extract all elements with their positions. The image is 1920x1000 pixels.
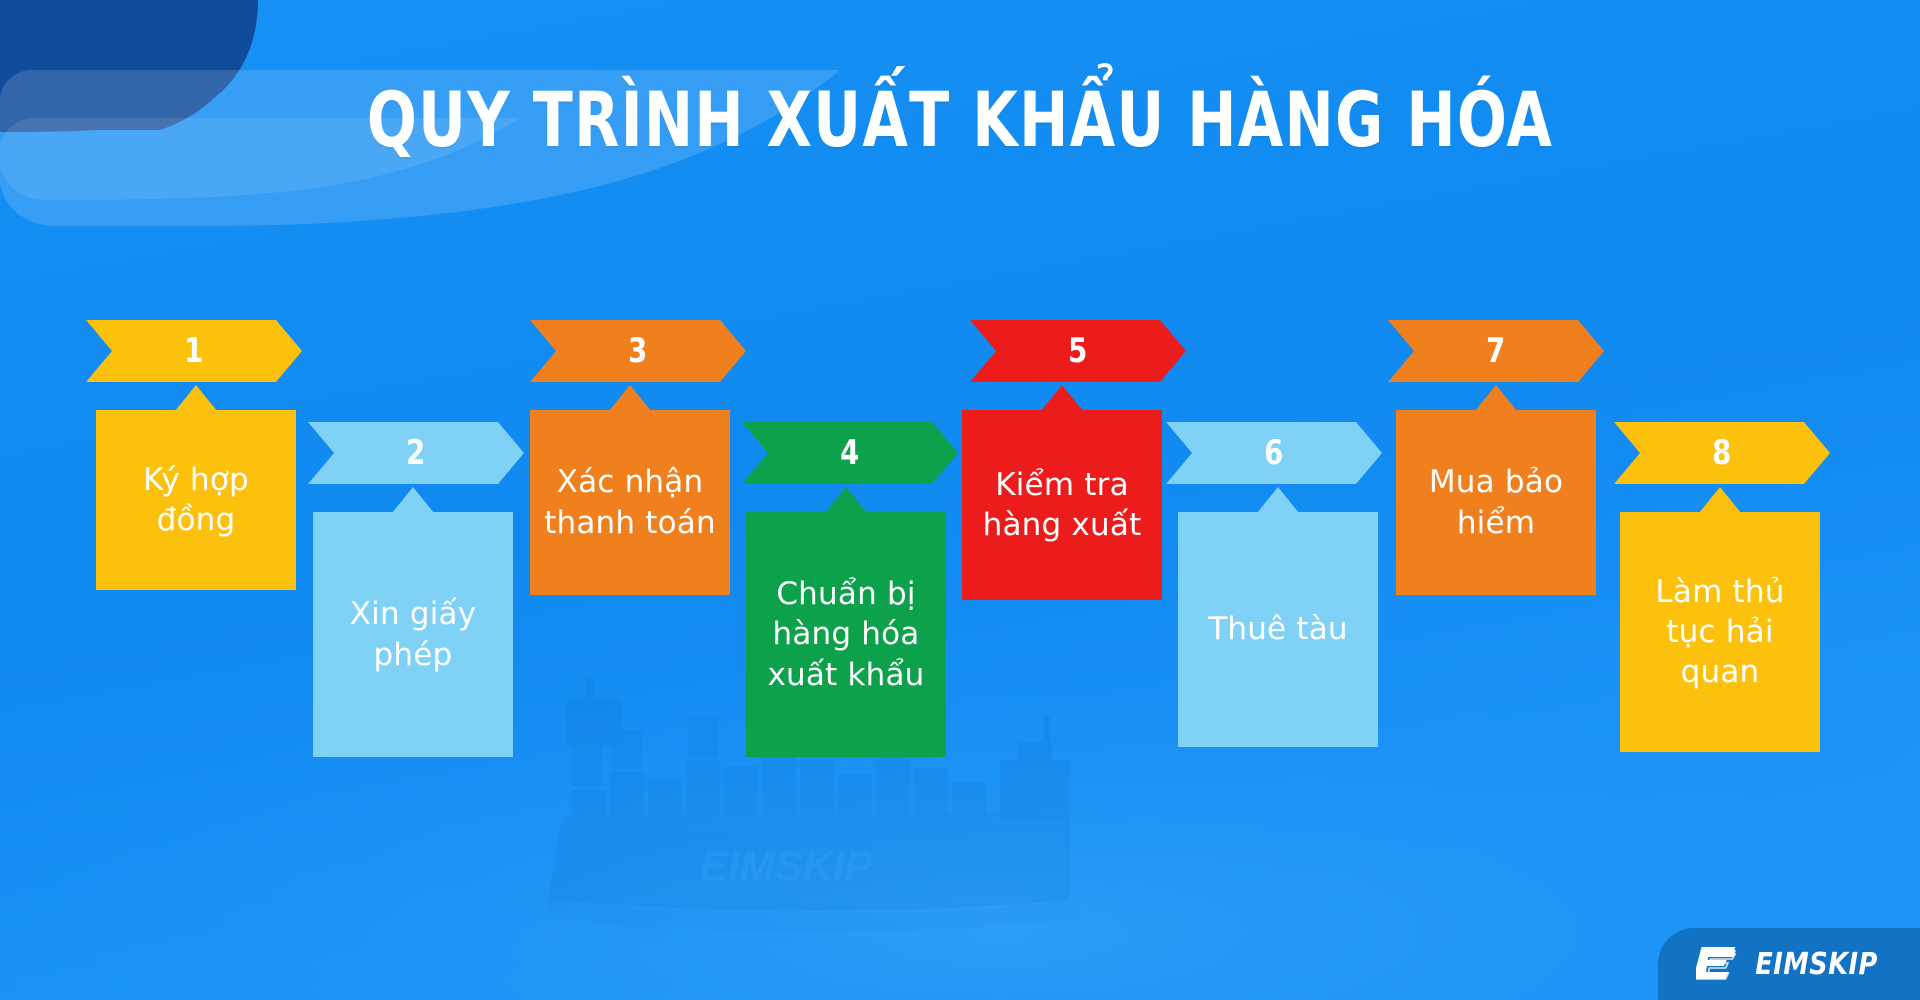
step-1-connector-tab: [175, 385, 217, 411]
step-3-number-banner[interactable]: 3: [530, 320, 746, 382]
step-5-number: 5: [1068, 331, 1088, 371]
step-4-label: Chuẩn bị hàng hóa xuất khẩu: [760, 574, 932, 695]
step-5-connector-tab: [1041, 385, 1083, 411]
step-4-number-banner[interactable]: 4: [742, 422, 958, 484]
step-2-card[interactable]: Xin giấy phép: [313, 512, 513, 757]
step-2-connector-tab: [392, 487, 434, 513]
step-1-label: Ký hợp đồng: [110, 460, 282, 541]
step-7-number-banner[interactable]: 7: [1388, 320, 1604, 382]
step-3-label: Xác nhận thanh toán: [544, 462, 716, 543]
step-5-number-banner[interactable]: 5: [970, 320, 1186, 382]
step-6-number-banner[interactable]: 6: [1166, 422, 1382, 484]
brand-logo-panel: EIMSKIP: [1658, 928, 1920, 1000]
step-4-number: 4: [840, 433, 860, 473]
step-8-connector-tab: [1699, 487, 1741, 513]
step-3-card[interactable]: Xác nhận thanh toán: [530, 410, 730, 595]
step-8-number: 8: [1712, 433, 1732, 473]
step-2-number-banner[interactable]: 2: [308, 422, 524, 484]
step-6-card[interactable]: Thuê tàu: [1178, 512, 1378, 747]
step-8-label: Làm thủ tục hải quan: [1634, 572, 1806, 693]
step-5-card[interactable]: Kiểm tra hàng xuất: [962, 410, 1162, 600]
step-7-card[interactable]: Mua bảo hiểm: [1396, 410, 1596, 595]
step-7-number: 7: [1486, 331, 1506, 371]
brand-name: EIMSKIP: [1756, 947, 1879, 982]
infographic-canvas: EIMSKIP QUY TRÌNH XUẤT KHẨU HÀNG HÓA 1Ký…: [0, 0, 1920, 1000]
step-2-number: 2: [406, 433, 426, 473]
step-8-number-banner[interactable]: 8: [1614, 422, 1830, 484]
step-4-connector-tab: [825, 487, 867, 513]
step-1-card[interactable]: Ký hợp đồng: [96, 410, 296, 590]
step-5-label: Kiểm tra hàng xuất: [976, 465, 1148, 546]
step-1-number-banner[interactable]: 1: [86, 320, 302, 382]
step-4-card[interactable]: Chuẩn bị hàng hóa xuất khẩu: [746, 512, 946, 757]
step-6-label: Thuê tàu: [1192, 609, 1364, 649]
step-7-connector-tab: [1475, 385, 1517, 411]
step-8-card[interactable]: Làm thủ tục hải quan: [1620, 512, 1820, 752]
step-2-label: Xin giấy phép: [327, 594, 499, 675]
step-6-number: 6: [1264, 433, 1284, 473]
step-7-label: Mua bảo hiểm: [1410, 462, 1582, 543]
eimskip-e-icon: [1696, 944, 1742, 984]
step-3-connector-tab: [609, 385, 651, 411]
step-3-number: 3: [628, 331, 648, 371]
step-1-number: 1: [184, 331, 204, 371]
steps-container: 1Ký hợp đồng2Xin giấy phép3Xác nhận than…: [0, 0, 1920, 1000]
step-6-connector-tab: [1257, 487, 1299, 513]
